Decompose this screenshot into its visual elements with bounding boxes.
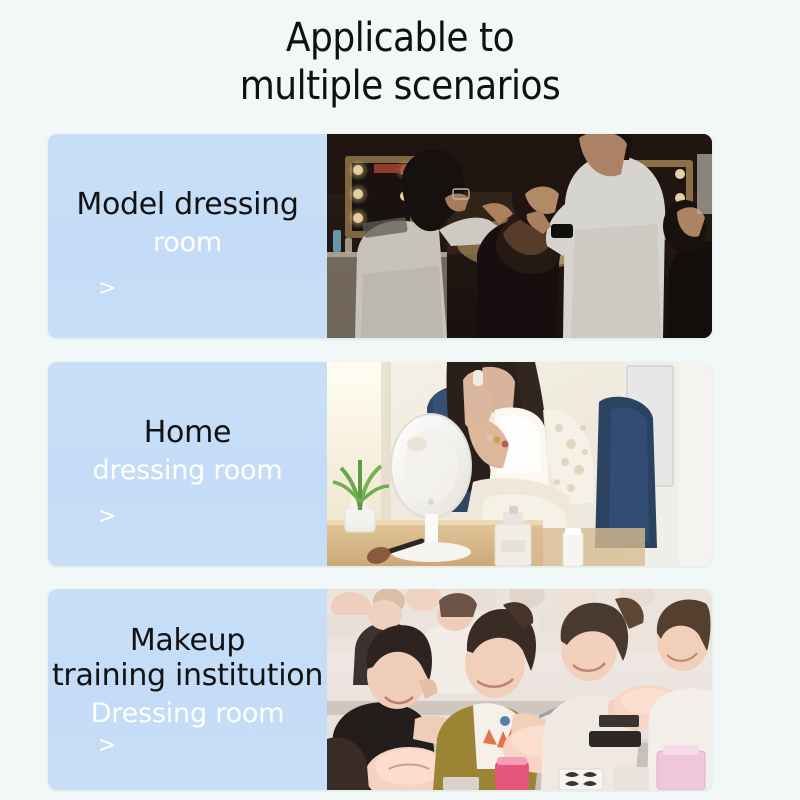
scenario-card-text-block: Home dressing room <box>48 362 327 566</box>
scenario-card-makeup-training-institution[interactable]: Makeup training institution Dressing roo… <box>48 589 712 790</box>
backstage-model-dressing-room-photo <box>327 134 712 338</box>
scenario-title-primary: Home <box>144 415 231 450</box>
page-title-line-2: multiple scenarios <box>0 62 800 110</box>
scenario-title-secondary: dressing room <box>93 454 283 488</box>
scenario-card-text-panel: Model dressing room > <box>48 134 327 338</box>
scenario-title-secondary: Dressing room <box>91 697 285 731</box>
scenario-card-text-block: Model dressing room <box>48 134 327 338</box>
page-title-line-1: Applicable to <box>0 14 800 62</box>
scenario-card-home-dressing-room[interactable]: Home dressing room > <box>48 362 712 566</box>
scenario-title-secondary: room <box>153 226 222 260</box>
scenario-title-primary: Model dressing <box>76 187 298 222</box>
scenario-card-text-panel: Home dressing room > <box>48 362 327 566</box>
scenario-title-primary: Makeup training institution <box>52 623 323 693</box>
chevron-right-icon[interactable]: > <box>98 506 116 528</box>
scenarios-page: Applicable to multiple scenarios Model d… <box>0 0 800 800</box>
scenario-card-text-panel: Makeup training institution Dressing roo… <box>48 589 327 790</box>
scenario-card-text-block: Makeup training institution Dressing roo… <box>48 589 327 790</box>
chevron-right-icon[interactable]: > <box>98 278 116 300</box>
page-title: Applicable to multiple scenarios <box>0 14 800 110</box>
scenario-card-model-dressing-room[interactable]: Model dressing room > <box>48 134 712 338</box>
chevron-right-icon[interactable]: > <box>98 735 116 757</box>
home-dressing-room-photo <box>327 362 712 566</box>
makeup-training-institution-photo <box>327 589 712 790</box>
